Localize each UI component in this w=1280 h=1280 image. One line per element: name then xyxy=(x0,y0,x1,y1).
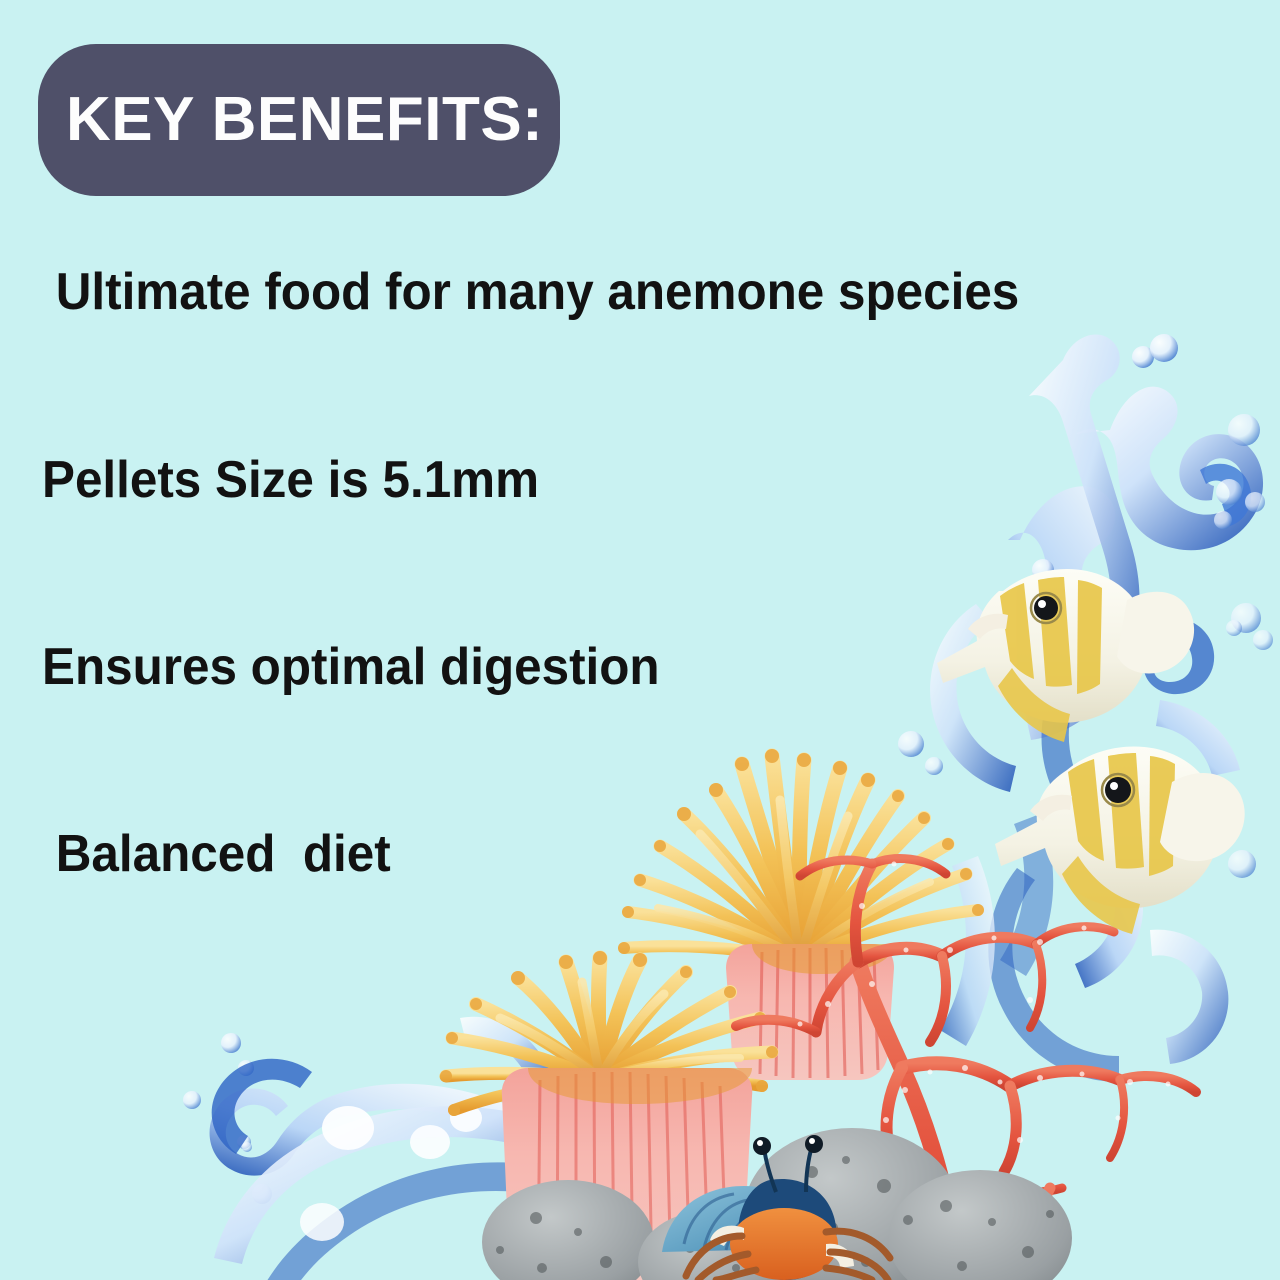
fish-tail-lower xyxy=(1160,773,1245,861)
benefit-item-2: Pellets Size is 5.1mm xyxy=(42,454,539,506)
benefit-item-1: Ultimate food for many anemone species xyxy=(42,266,1019,318)
key-benefits-badge-label: KEY BENEFITS: xyxy=(66,89,543,151)
benefit-item-3: Ensures optimal digestion xyxy=(42,641,660,693)
fish-tail-upper xyxy=(1117,592,1194,674)
benefit-item-4: Balanced diet xyxy=(42,828,391,880)
anemone-large-tentacles xyxy=(618,749,984,960)
butterflyfish-upper xyxy=(937,569,1194,742)
key-benefits-infographic: KEY BENEFITS: Ultimate food for many ane… xyxy=(0,0,1280,1280)
key-benefits-badge: KEY BENEFITS: xyxy=(38,44,560,196)
